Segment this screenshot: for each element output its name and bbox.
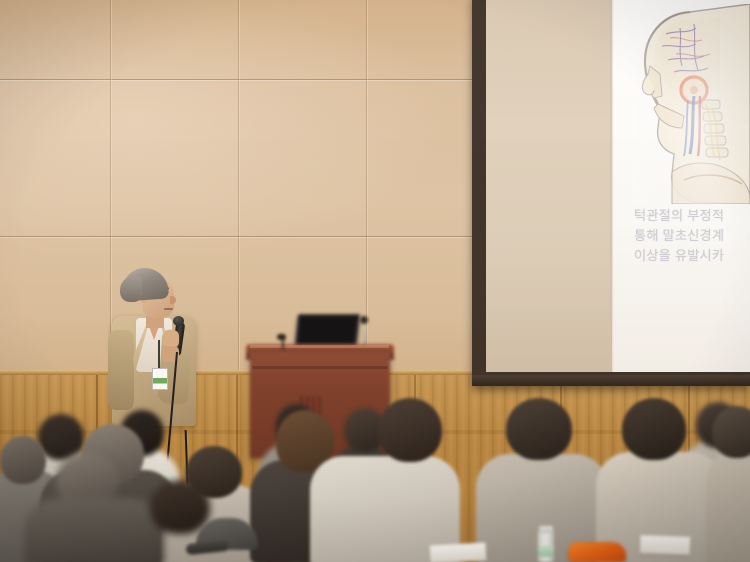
orange-bag [568,542,626,562]
presenter-name-badge [152,368,168,390]
presenter-hair-side [120,276,142,302]
slide-text-line-1: 턱관절의 부정적 [634,206,750,226]
presenter-lanyard [158,340,160,370]
presenter-left-arm [108,330,134,410]
water-bottle-cap [539,526,553,533]
lecture-hall-photo: 턱관절의 부정적 통해 말초신경계 이상을 유발시카 [0,0,750,562]
front-row-head-6 [506,398,572,460]
slide-text-line-3: 이상을 유발시카 [634,246,750,266]
foreground-head-2 [150,480,210,534]
wall-seam-horizontal [0,79,480,80]
wall-seam-horizontal-b [0,236,480,237]
handheld-microphone-head [173,316,184,326]
slide-text-block: 턱관절의 부정적 통해 말초신경계 이상을 유발시카 [634,206,750,266]
wall-seam-vertical-a [110,0,111,372]
paper-handout-6 [640,535,691,555]
anatomy-svg [632,4,750,204]
slide-text-line-2: 통해 말초신경계 [634,226,750,246]
paper-handout-5 [430,543,487,562]
front-row-body-8 [706,448,750,562]
water-bottle-label [538,546,554,557]
slide-left-edge-highlight [610,0,614,372]
anatomy-illustration [632,4,750,204]
front-row-head-1 [0,436,46,484]
foreground-body-1 [24,498,164,562]
gooseneck-mic-head [277,334,286,340]
front-row-head-7 [622,398,686,460]
podium-microphone-head [360,316,368,324]
projection-screen-unlit-area [486,0,614,372]
podium-top-highlight [250,345,389,348]
presenter-mouth [164,308,173,310]
front-row-head-5 [378,398,442,462]
podium-lip [252,366,388,369]
front-row-head-8 [712,406,750,458]
wall-seam-vertical-b [238,0,239,372]
